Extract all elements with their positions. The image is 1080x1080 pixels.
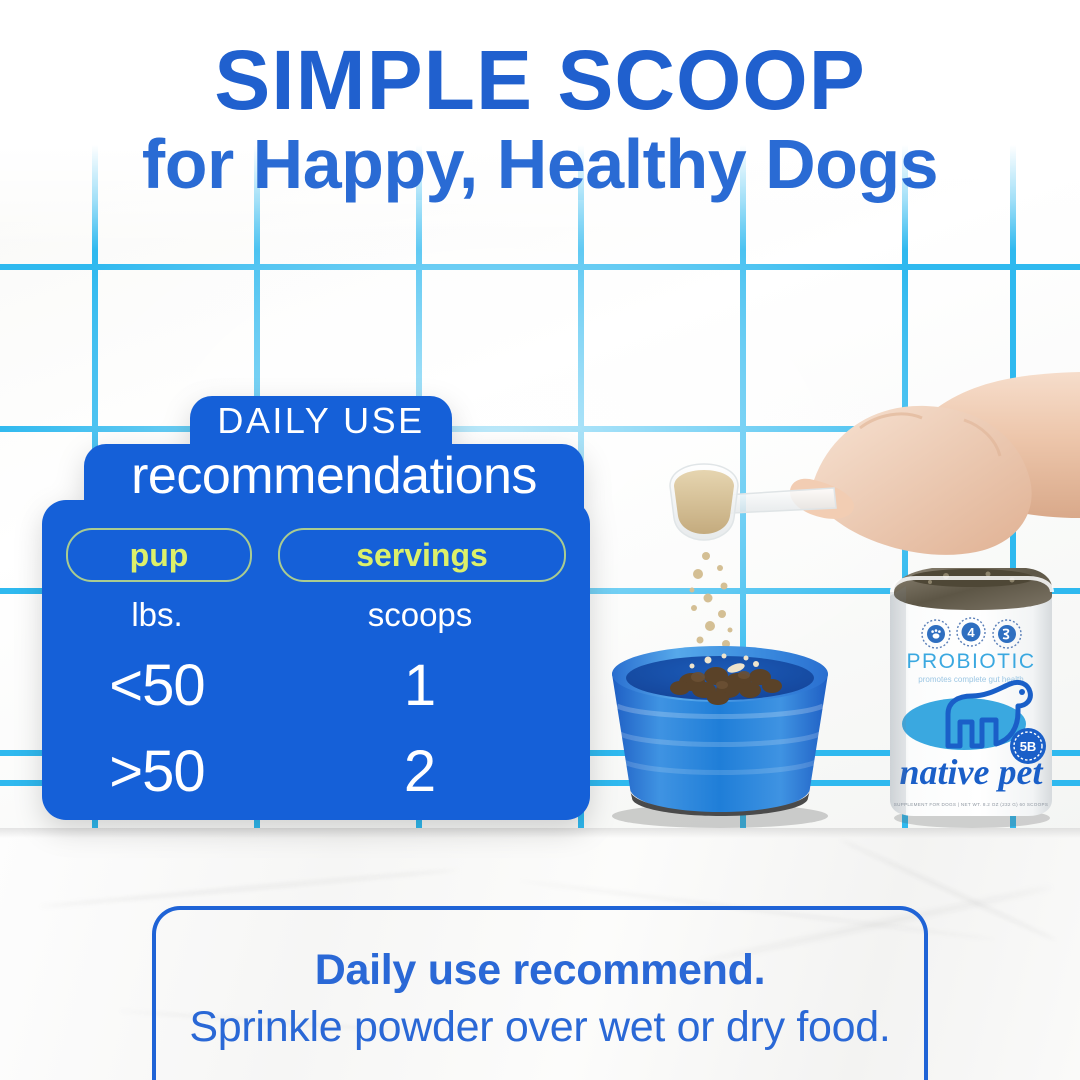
column-header-servings: servings <box>278 528 566 582</box>
table-header-row: pup servings <box>42 528 590 582</box>
callout-line-1: Daily use recommend. <box>315 946 765 995</box>
dosage-table: pup servings lbs. scoops <50 1 >50 2 <box>42 500 590 820</box>
card-title: recommendations <box>84 446 584 506</box>
tin-brand-wordmark: native pet <box>900 752 1044 792</box>
instruction-callout: Daily use recommend. Sprinkle powder ove… <box>152 906 928 1080</box>
row-scoops: 1 <box>274 652 566 719</box>
row-weight: <50 <box>66 652 248 719</box>
tin-product-name: PROBIOTIC <box>906 650 1035 673</box>
table-subheader-row: lbs. scoops <box>42 596 590 634</box>
column-unit-scoops: scoops <box>274 596 566 634</box>
row-scoops: 2 <box>274 738 566 805</box>
callout-line-2: Sprinkle powder over wet or dry food. <box>189 1003 890 1052</box>
tin-fineprint: SUPPLEMENT FOR DOGS | NET WT. 8.2 OZ (23… <box>894 802 1049 807</box>
column-unit-lbs: lbs. <box>66 596 248 634</box>
badge-number-text: 4 <box>967 625 975 640</box>
page-title: SIMPLE SCOOP <box>0 38 1080 122</box>
row-weight: >50 <box>66 738 248 805</box>
table-row: <50 1 <box>42 652 590 719</box>
card-eyebrow: DAILY USE <box>190 400 452 442</box>
column-header-pup: pup <box>66 528 252 582</box>
product-infographic: SIMPLE SCOOP for Happy, Healthy Dogs <box>0 0 1080 1080</box>
product-tin: 4 PROBIOTIC promotes complete gut health… <box>876 556 1066 828</box>
dog-bowl-illustration <box>588 630 852 830</box>
table-row: >50 2 <box>42 738 590 805</box>
daily-use-card: DAILY USE recommendations pup servings l… <box>42 396 590 820</box>
page-subtitle: for Happy, Healthy Dogs <box>0 128 1080 202</box>
